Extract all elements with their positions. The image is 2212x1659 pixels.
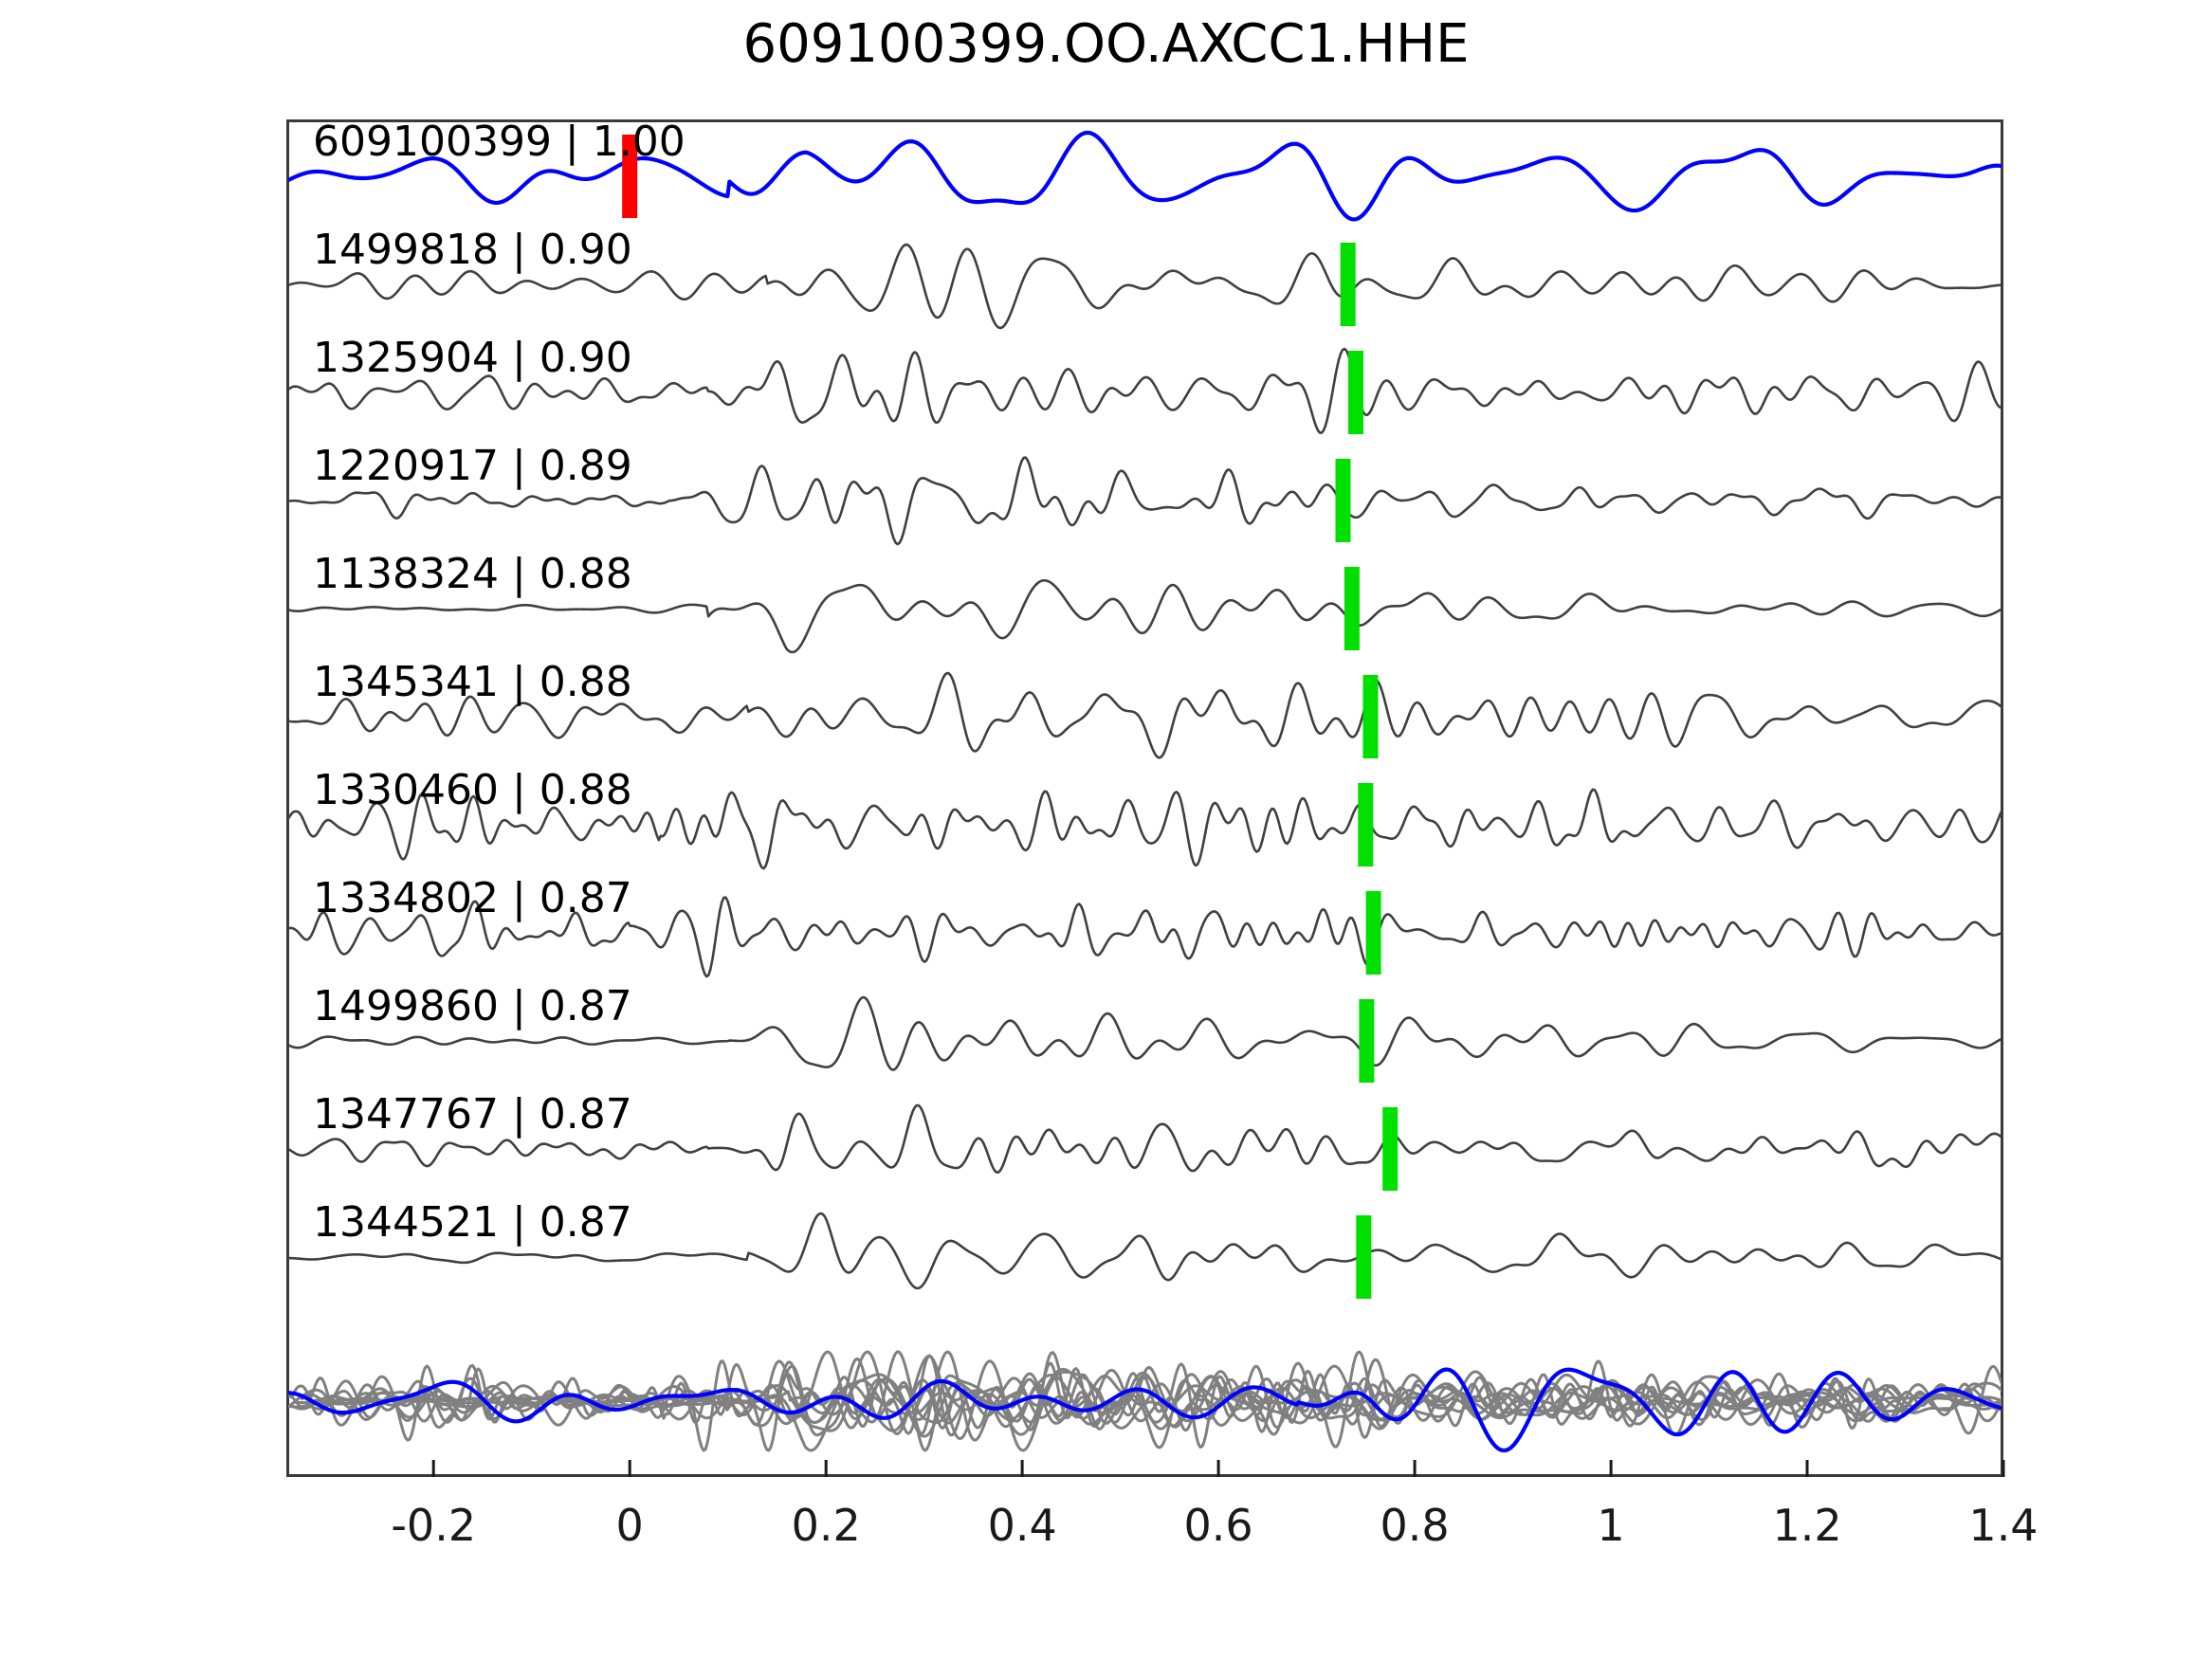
x-axis-tick-label: 0.2 [792, 1500, 861, 1551]
x-axis-tick-label: 0 [616, 1500, 644, 1551]
match-pick-marker [1366, 891, 1381, 975]
x-axis-tick-label: 1 [1597, 1500, 1624, 1551]
trace-label: 1499818 | 0.90 [313, 226, 632, 274]
match-pick-marker [1358, 783, 1373, 866]
match-pick-marker [1341, 243, 1356, 326]
trace-label: 1344521 | 0.87 [313, 1198, 632, 1247]
trace-label: 1220917 | 0.89 [313, 442, 632, 490]
stack-gray-waveform [291, 1361, 2008, 1450]
x-axis-tick-label: 0.8 [1380, 1500, 1450, 1551]
match-pick-marker [1356, 1215, 1371, 1299]
waveform-figure: 609100399.OO.AXCC1.HHE 609100399 | 1.001… [0, 0, 2212, 1659]
match-pick-marker [1344, 567, 1360, 650]
match-pick-marker [1382, 1107, 1398, 1191]
trace-label: 1325904 | 0.90 [313, 334, 632, 382]
match-pick-marker [1359, 999, 1374, 1083]
x-axis-tick-label: 1.4 [1968, 1500, 2038, 1551]
trace-label: 609100399 | 1.00 [313, 118, 686, 166]
trace-label: 1347767 | 0.87 [313, 1090, 632, 1139]
trace-label: 1334802 | 0.87 [313, 874, 632, 922]
match-pick-marker [1336, 459, 1351, 542]
trace-label: 1138324 | 0.88 [313, 550, 632, 598]
x-axis-tick-label: -0.2 [391, 1500, 476, 1551]
trace-label: 1499860 | 0.87 [313, 982, 632, 1030]
match-pick-marker [1363, 675, 1379, 758]
trace-label: 1330460 | 0.88 [313, 766, 632, 814]
x-axis-tick-label: 0.6 [1184, 1500, 1253, 1551]
trace-label: 1345341 | 0.88 [313, 658, 632, 706]
x-axis-tick-label: 1.2 [1772, 1500, 1841, 1551]
match-pick-marker [1348, 351, 1363, 434]
x-axis-tick-label: 0.4 [988, 1500, 1057, 1551]
